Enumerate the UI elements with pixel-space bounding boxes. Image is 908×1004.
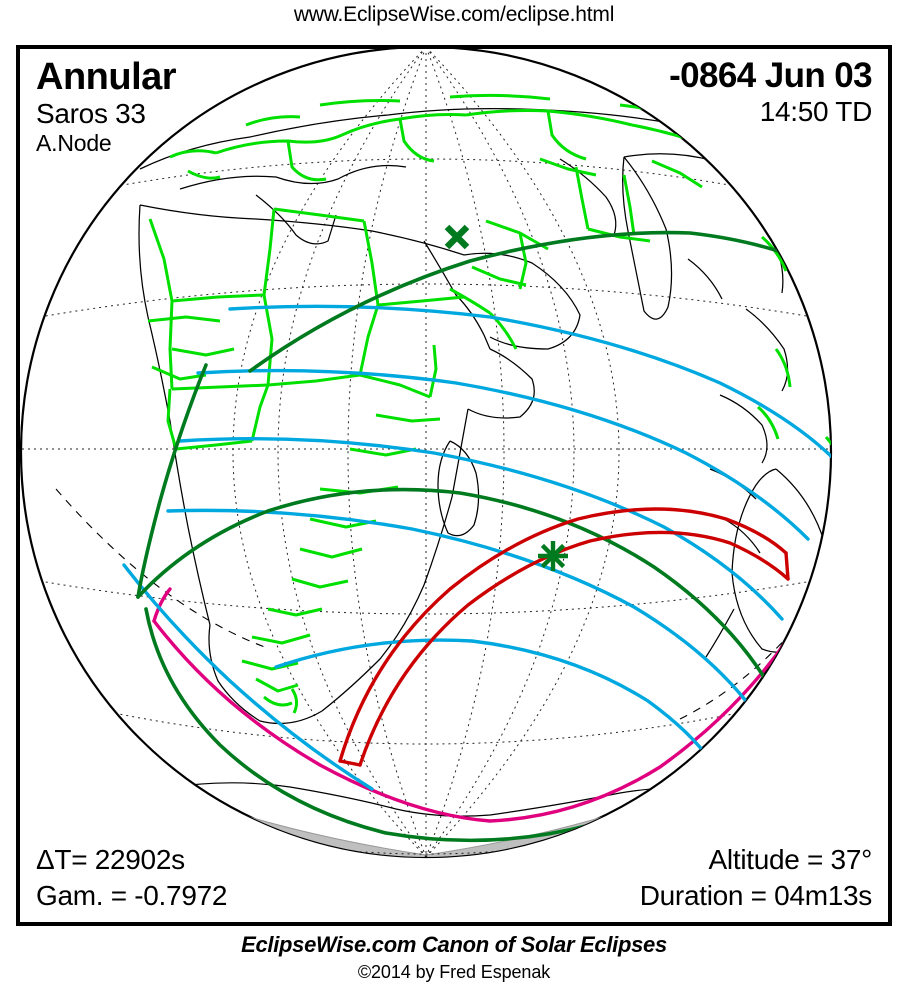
altitude-value: Altitude = 37°	[640, 842, 872, 878]
footer-copyright: ©2014 by Fred Espenak	[0, 962, 908, 983]
footer-title: EclipseWise.com Canon of Solar Eclipses	[0, 932, 908, 958]
map-frame: Annular Saros 33 A.Node -0864 Jun 03 14:…	[16, 45, 892, 926]
eclipse-date-label: -0864 Jun 03	[669, 57, 872, 94]
header-left-block: Annular Saros 33 A.Node	[36, 57, 176, 155]
globe-svg	[20, 49, 888, 922]
url-header: www.EclipseWise.com/eclipse.html	[0, 3, 908, 27]
header-right-block: -0864 Jun 03 14:50 TD	[669, 57, 872, 127]
saros-label: Saros 33	[36, 99, 176, 129]
eclipse-time-label: 14:50 TD	[669, 97, 872, 127]
eclipse-map-page: www.EclipseWise.com/eclipse.html	[0, 0, 908, 1004]
greatest-eclipse-asterisk	[538, 541, 568, 571]
map-canvas: Annular Saros 33 A.Node -0864 Jun 03 14:…	[20, 49, 888, 922]
stats-right-block: Altitude = 37° Duration = 04m13s	[640, 842, 872, 914]
stats-left-block: ΔT= 22902s Gam. = -0.7972	[36, 842, 227, 914]
gamma-value: Gam. = -0.7972	[36, 878, 227, 914]
duration-value: Duration = 04m13s	[640, 878, 872, 914]
footer: EclipseWise.com Canon of Solar Eclipses …	[0, 932, 908, 983]
node-label: A.Node	[36, 131, 176, 155]
eclipse-type-label: Annular	[36, 57, 176, 97]
delta-t-value: ΔT= 22902s	[36, 842, 227, 878]
